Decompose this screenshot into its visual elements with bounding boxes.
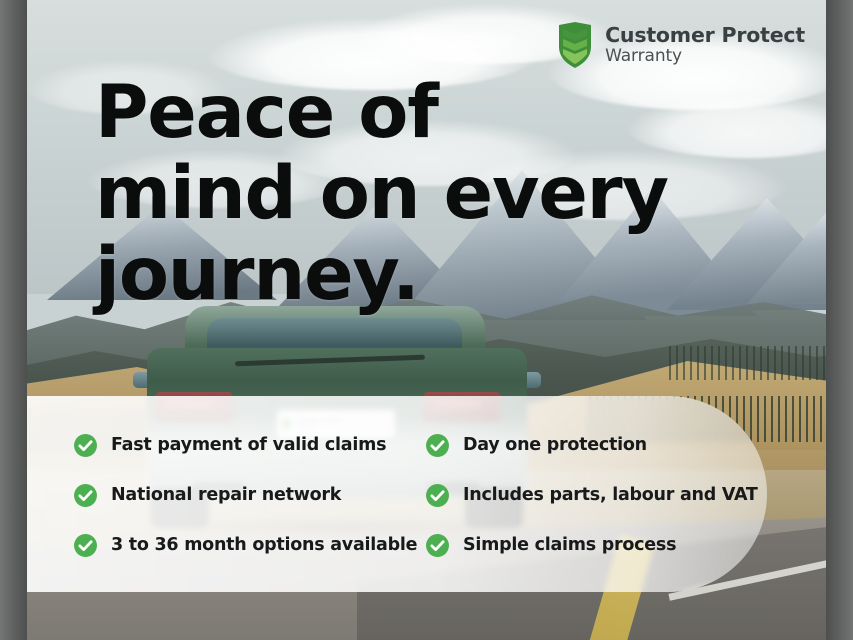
shield-chevrons-icon bbox=[557, 22, 593, 68]
brand-logo[interactable]: Customer Protect Warranty bbox=[557, 22, 805, 68]
brand-subtitle: Warranty bbox=[605, 48, 805, 65]
feature-item: Includes parts, labour and VAT bbox=[425, 470, 767, 520]
feature-item: 3 to 36 month options available bbox=[73, 520, 425, 570]
feature-label: Fast payment of valid claims bbox=[111, 435, 386, 455]
features-panel: Fast payment of valid claims Day one pro… bbox=[27, 396, 767, 592]
check-circle-icon bbox=[425, 483, 450, 508]
check-circle-icon bbox=[73, 483, 98, 508]
check-circle-icon bbox=[425, 533, 450, 558]
feature-label: Day one protection bbox=[463, 435, 647, 455]
page-title: Peace of mind on every journey. bbox=[95, 72, 755, 315]
brand-name: Customer Protect bbox=[605, 25, 805, 46]
right-bezel bbox=[826, 0, 853, 640]
conifer-belt bbox=[667, 346, 826, 380]
features-grid: Fast payment of valid claims Day one pro… bbox=[27, 396, 767, 592]
feature-item: National repair network bbox=[73, 470, 425, 520]
check-circle-icon bbox=[73, 433, 98, 458]
brand-text: Customer Protect Warranty bbox=[605, 25, 805, 66]
feature-item: Fast payment of valid claims bbox=[73, 420, 425, 470]
check-circle-icon bbox=[425, 433, 450, 458]
feature-label: Includes parts, labour and VAT bbox=[463, 485, 758, 505]
feature-label: National repair network bbox=[111, 485, 341, 505]
advert-canvas: Customer Protect Warranty Peace of mind … bbox=[0, 0, 853, 640]
feature-label: Simple claims process bbox=[463, 535, 676, 555]
check-circle-icon bbox=[73, 533, 98, 558]
feature-item: Simple claims process bbox=[425, 520, 767, 570]
feature-label: 3 to 36 month options available bbox=[111, 535, 417, 555]
feature-item: Day one protection bbox=[425, 420, 767, 470]
left-bezel bbox=[0, 0, 27, 640]
